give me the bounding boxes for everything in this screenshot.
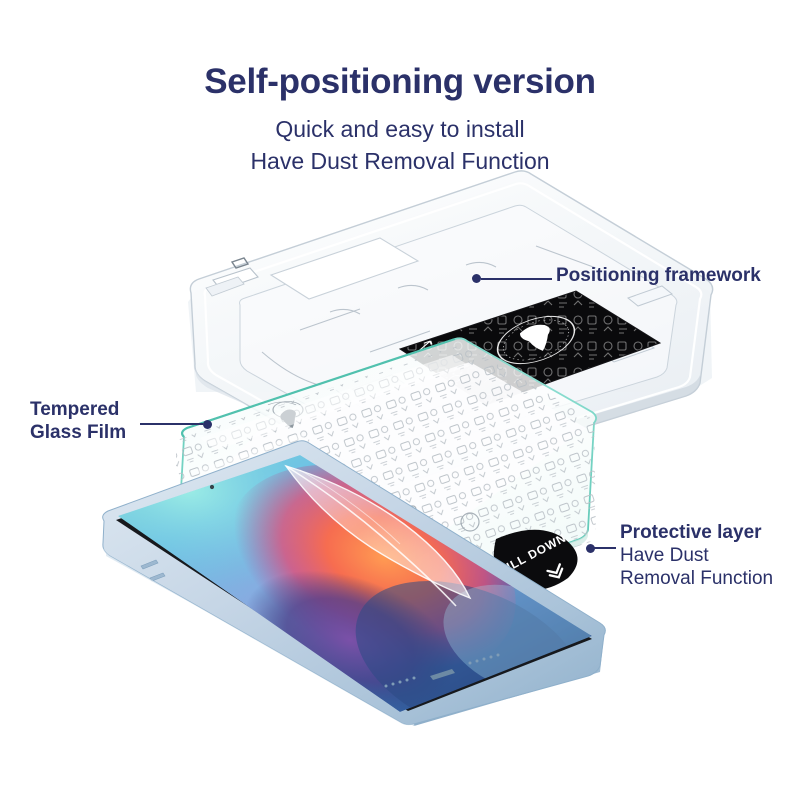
leader-dot-positioning-framework xyxy=(472,274,481,283)
callout-tempered-glass-label-line-2: Glass Film xyxy=(30,421,126,444)
callout-tempered-glass-label-line-1: Tempered xyxy=(30,398,126,421)
callout-protective-layer: Protective layer Have Dust Removal Funct… xyxy=(620,521,773,591)
leader-dot-tempered-glass xyxy=(203,420,212,429)
callout-tempered-glass: Tempered Glass Film xyxy=(30,398,126,444)
leader-dot-protective-layer xyxy=(586,544,595,553)
callout-positioning-framework: Positioning framework xyxy=(556,264,761,287)
callout-protective-layer-label: Protective layer xyxy=(620,521,773,544)
callout-protective-layer-detail-line-1: Have Dust xyxy=(620,544,773,567)
callout-protective-layer-detail-line-2: Removal Function xyxy=(620,567,773,590)
product-infographic: Self-positioning version Quick and easy … xyxy=(0,0,800,800)
callout-positioning-framework-label: Positioning framework xyxy=(556,264,761,287)
